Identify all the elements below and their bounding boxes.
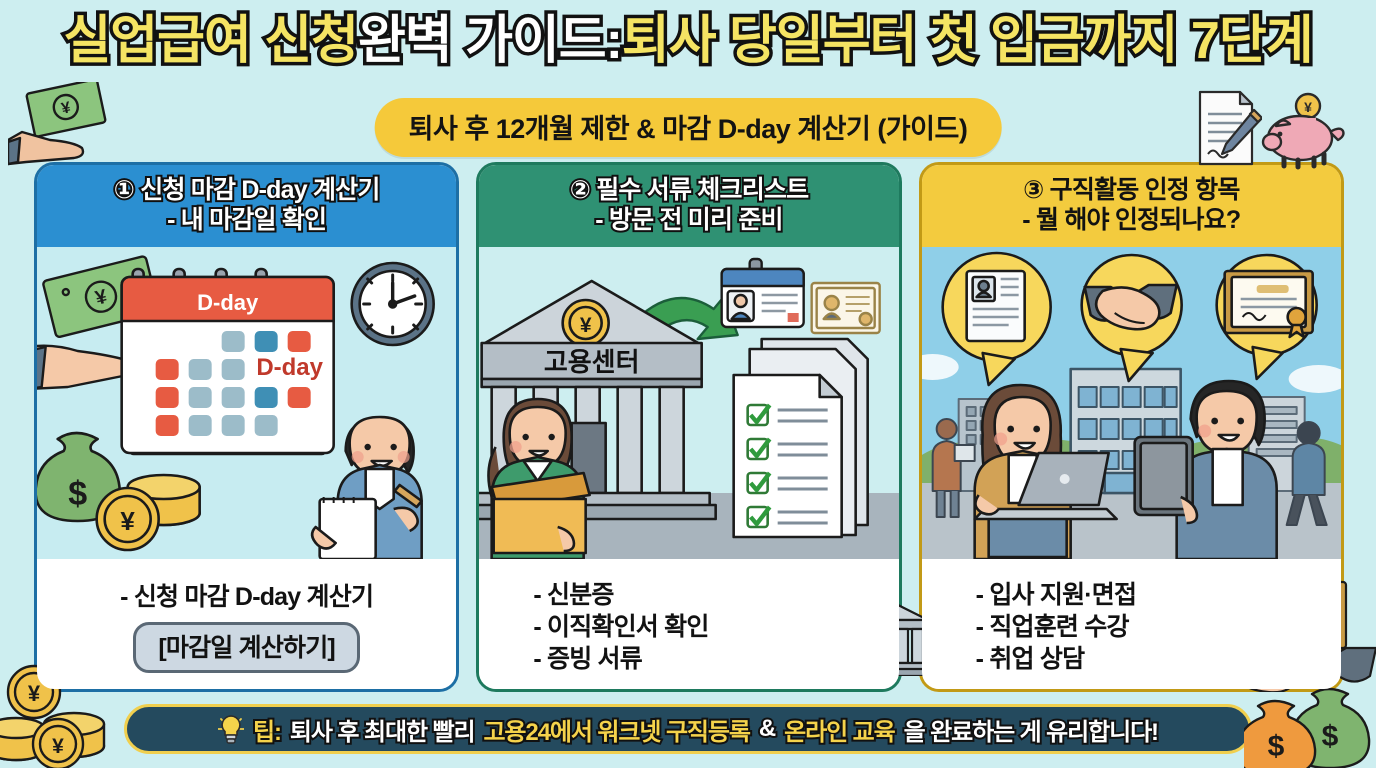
footer-segment-6: 을 완료하는 게 유리합니다! [904, 712, 1158, 747]
title-segment-3: 퇴사 당일부터 첫 입금까지 7단계 [622, 14, 1313, 69]
panel-3-illustration [922, 247, 1341, 559]
panel-3-heading-line2: - 뭘 해야 인정되나요? [930, 205, 1333, 235]
svg-text:D-day: D-day [197, 290, 259, 315]
svg-text:¥: ¥ [580, 314, 592, 337]
svg-text:고용센터: 고용센터 [544, 347, 640, 377]
panel-2-heading-line1: ② 필수 서류 체크리스트 [487, 175, 890, 205]
panel-1-heading-line1: ① 신청 마감 D-day 계산기 [45, 175, 448, 205]
svg-text:¥: ¥ [52, 735, 64, 758]
footer-segment-3: 고용24에서 워크넷 구직등록 [483, 712, 749, 747]
panel-1-heading-line2: - 내 마감일 확인 [45, 205, 448, 235]
footer-segment-5: 온라인 교육 [784, 712, 894, 747]
svg-text:¥: ¥ [60, 99, 72, 117]
panel-3-footer-line-3: - 취업 상담 [922, 643, 1341, 675]
svg-text:¥: ¥ [120, 506, 135, 536]
svg-text:$: $ [68, 475, 87, 513]
panel-2-footer: - 신분증 - 이직확인서 확인 - 증빙 서류 [479, 559, 898, 689]
lightbulb-icon [218, 713, 244, 745]
panel-2-header: ② 필수 서류 체크리스트 - 방문 전 미리 준비 [479, 165, 898, 247]
svg-text:¥: ¥ [1304, 99, 1312, 115]
panel-1-footer: - 신청 마감 D-day 계산기 [마감일 계산하기] [37, 559, 456, 689]
money-bags-icon: $ $ [1244, 680, 1376, 768]
footer-segment-1: 팁: [253, 712, 281, 747]
footer-segment-4: & [759, 715, 775, 743]
panel-1-illustration: ¥ D-day [37, 247, 456, 559]
panel-3-footer-line-1: - 입사 지원·면접 [922, 579, 1341, 611]
panel-dday-calculator[interactable]: ① 신청 마감 D-day 계산기 - 내 마감일 확인 ¥ [34, 162, 459, 692]
panel-2-footer-line-3: - 증빙 서류 [479, 643, 898, 675]
panel-2-illustration: ¥ 고용센터 [479, 247, 898, 559]
title-segment-1: 실업급여 신청 [63, 14, 358, 69]
svg-text:$: $ [1322, 720, 1339, 753]
panel-3-footer-line-2: - 직업훈련 수강 [922, 611, 1341, 643]
panel-2-footer-line-1: - 신분증 [479, 579, 898, 611]
svg-text:$: $ [1268, 730, 1285, 763]
infographic-canvas: 실업급여 신청 완벽 가이드: 퇴사 당일부터 첫 입금까지 7단계 ¥ 퇴사 … [0, 0, 1376, 768]
page-title: 실업급여 신청 완벽 가이드: 퇴사 당일부터 첫 입금까지 7단계 [0, 14, 1376, 69]
piggy-bank-icon: ¥ [1258, 92, 1348, 170]
panel-job-search-activities[interactable]: ③ 구직활동 인정 항목 - 뭘 해야 인정되나요? [919, 162, 1344, 692]
panel-container: ① 신청 마감 D-day 계산기 - 내 마감일 확인 ¥ [34, 162, 1344, 692]
panel-document-checklist[interactable]: ② 필수 서류 체크리스트 - 방문 전 미리 준비 ¥ [476, 162, 901, 692]
subtitle-text: 퇴사 후 12개월 제한 & 마감 D-day 계산기 (가이드) [409, 114, 968, 144]
svg-text:D-day: D-day [256, 354, 323, 381]
cash-in-hand-icon: ¥ [8, 82, 128, 172]
calculate-deadline-button[interactable]: [마감일 계산하기] [133, 622, 360, 673]
panel-2-footer-line-2: - 이직확인서 확인 [479, 611, 898, 643]
document-with-pen-icon [1192, 88, 1262, 168]
footer-segment-2: 퇴사 후 최대한 빨리 [290, 712, 475, 747]
title-segment-2: 완벽 가이드: [358, 14, 622, 69]
panel-1-header: ① 신청 마감 D-day 계산기 - 내 마감일 확인 [37, 165, 456, 247]
subtitle-banner: 퇴사 후 12개월 제한 & 마감 D-day 계산기 (가이드) [375, 98, 1002, 157]
panel-3-header: ③ 구직활동 인정 항목 - 뭘 해야 인정되나요? [922, 165, 1341, 247]
panel-2-heading-line2: - 방문 전 미리 준비 [487, 205, 890, 235]
tip-footer-banner: 팁: 퇴사 후 최대한 빨리 고용24에서 워크넷 구직등록 & 온라인 교육을… [124, 704, 1252, 754]
panel-3-heading-line1: ③ 구직활동 인정 항목 [930, 175, 1333, 205]
panel-1-footer-line-1: - 신청 마감 D-day 계산기 [37, 581, 456, 613]
panel-3-footer: - 입사 지원·면접 - 직업훈련 수강 - 취업 상담 [922, 559, 1341, 689]
